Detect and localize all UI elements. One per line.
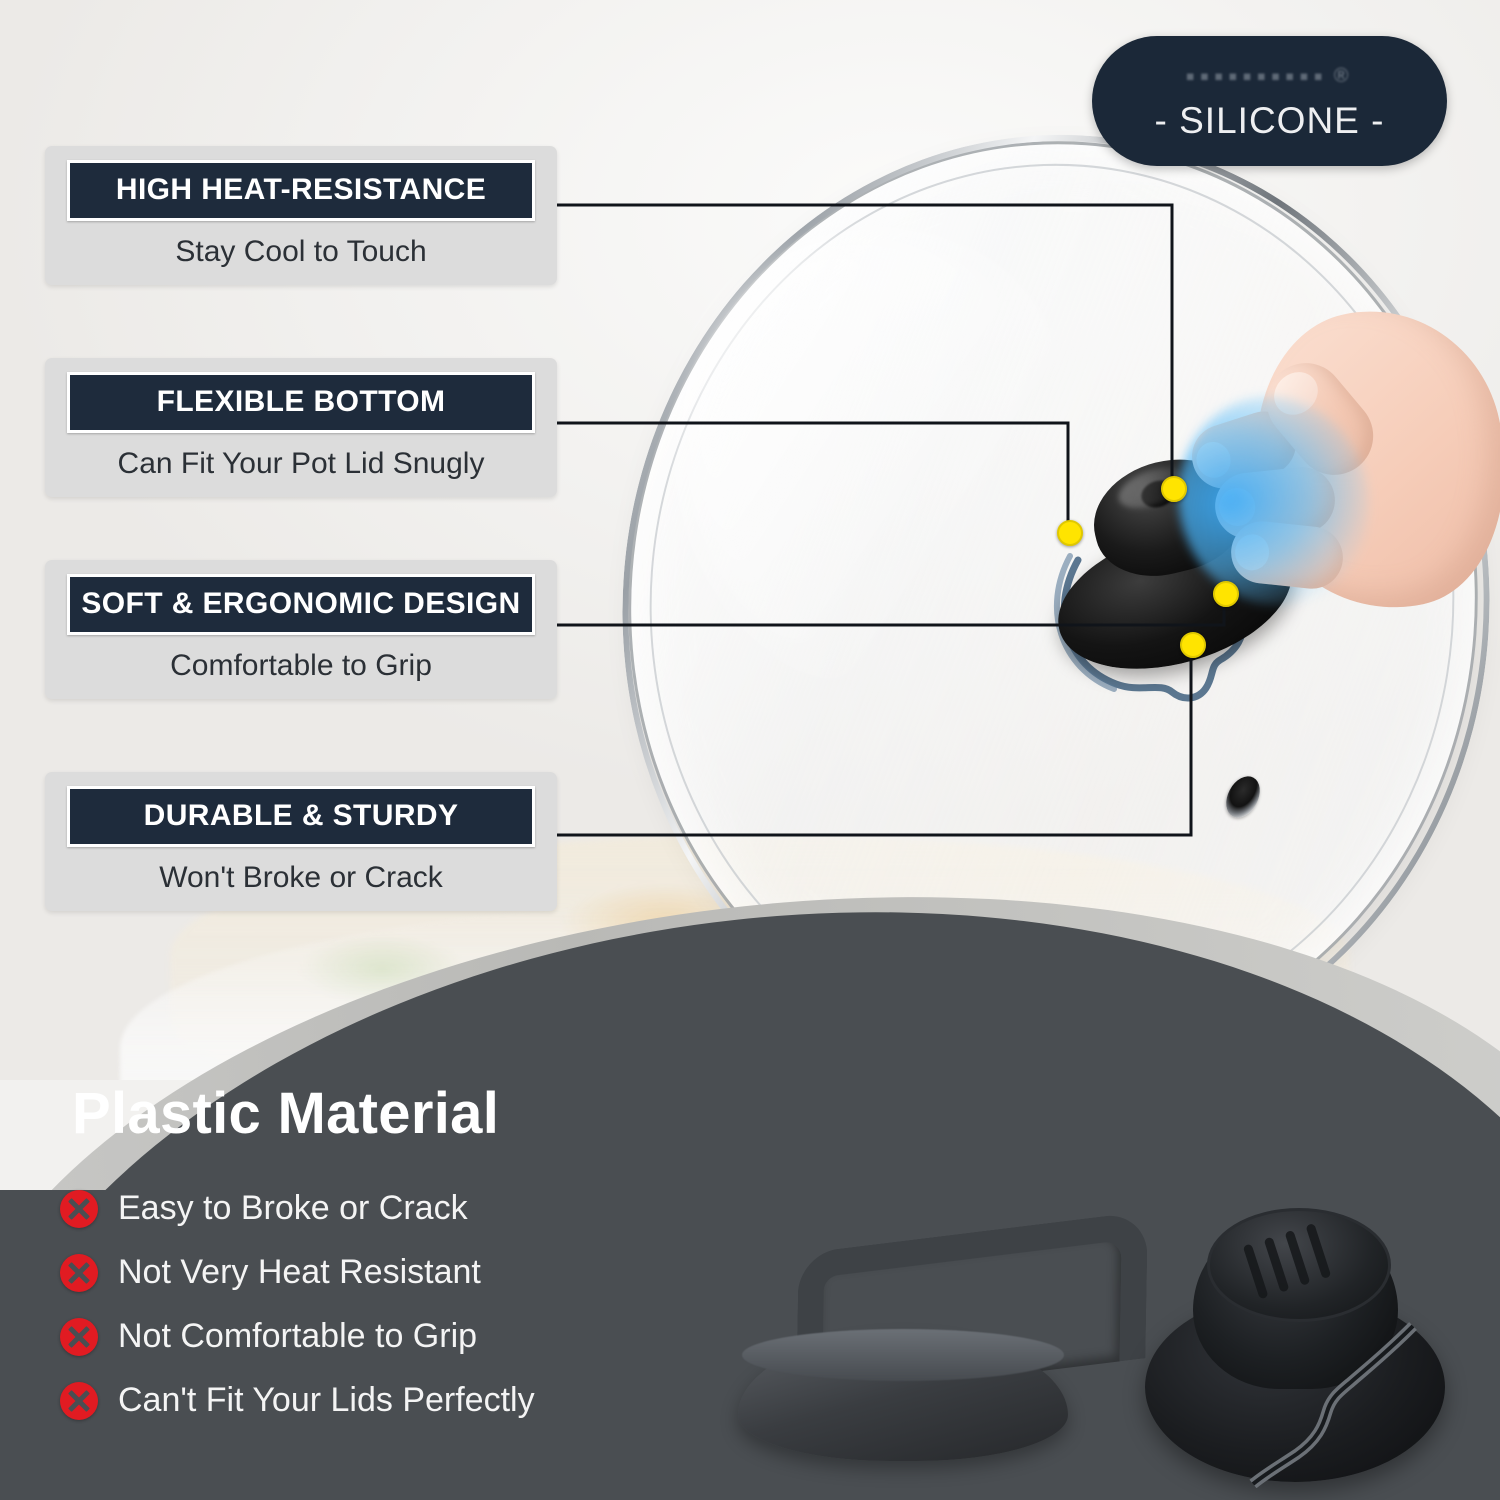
circle-x-icon: [60, 1254, 98, 1292]
feature-title: FLEXIBLE BOTTOM: [67, 372, 535, 433]
feature-callout-soft-ergonomic-design: SOFT & ERGONOMIC DESIGN Comfortable to G…: [45, 560, 557, 699]
feature-subtitle: Won't Broke or Crack: [45, 847, 557, 895]
feature-callout-durable-sturdy: DURABLE & STURDY Won't Broke or Crack: [45, 772, 557, 911]
plastic-cons-list: Easy to Broke or Crack Not Very Heat Res…: [60, 1190, 700, 1446]
yellow-dot-marker: [1180, 632, 1206, 658]
list-item: Not Very Heat Resistant: [60, 1254, 700, 1292]
feature-callout-flexible-bottom: FLEXIBLE BOTTOM Can Fit Your Pot Lid Snu…: [45, 358, 557, 497]
yellow-dot-marker: [1161, 476, 1187, 502]
con-text: Not Very Heat Resistant: [118, 1254, 481, 1291]
con-text: Can't Fit Your Lids Perfectly: [118, 1382, 535, 1419]
broken-plastic-knob-photo: [1145, 1200, 1445, 1490]
handle-base-lip: [742, 1329, 1064, 1381]
circle-x-icon: [60, 1190, 98, 1228]
brand-name-obscured: ▪▪▪▪▪▪▪▪▪▪ ®: [1186, 61, 1354, 92]
brand-name-text: ▪▪▪▪▪▪▪▪▪▪: [1186, 61, 1328, 92]
feature-title: DURABLE & STURDY: [67, 786, 535, 847]
plastic-material-title: Plastic Material: [72, 1080, 499, 1147]
crack-damage: [1235, 1320, 1425, 1488]
feature-subtitle: Can Fit Your Pot Lid Snugly: [45, 433, 557, 481]
yellow-dot-marker: [1057, 520, 1083, 546]
yellow-dot-marker: [1213, 581, 1239, 607]
list-item: Can't Fit Your Lids Perfectly: [60, 1382, 700, 1420]
feature-subtitle: Comfortable to Grip: [45, 635, 557, 683]
brand-badge: ▪▪▪▪▪▪▪▪▪▪ ® - SILICONE -: [1092, 36, 1447, 166]
circle-x-icon: [60, 1382, 98, 1420]
circle-x-icon: [60, 1318, 98, 1356]
feature-title: SOFT & ERGONOMIC DESIGN: [67, 574, 535, 635]
badge-material-label: - SILICONE -: [1155, 100, 1385, 142]
feature-subtitle: Stay Cool to Touch: [45, 221, 557, 269]
con-text: Easy to Broke or Crack: [118, 1190, 468, 1227]
product-infographic: HIGH HEAT-RESISTANCE Stay Cool to Touch …: [0, 0, 1500, 1500]
feature-title: HIGH HEAT-RESISTANCE: [67, 160, 535, 221]
list-item: Easy to Broke or Crack: [60, 1190, 700, 1228]
registered-trademark-icon: ®: [1334, 65, 1354, 88]
plastic-side-handle-photo: [718, 1225, 1108, 1475]
feature-callout-high-heat-resistance: HIGH HEAT-RESISTANCE Stay Cool to Touch: [45, 146, 557, 285]
con-text: Not Comfortable to Grip: [118, 1318, 477, 1355]
hand-photo: [1185, 300, 1500, 660]
list-item: Not Comfortable to Grip: [60, 1318, 700, 1356]
